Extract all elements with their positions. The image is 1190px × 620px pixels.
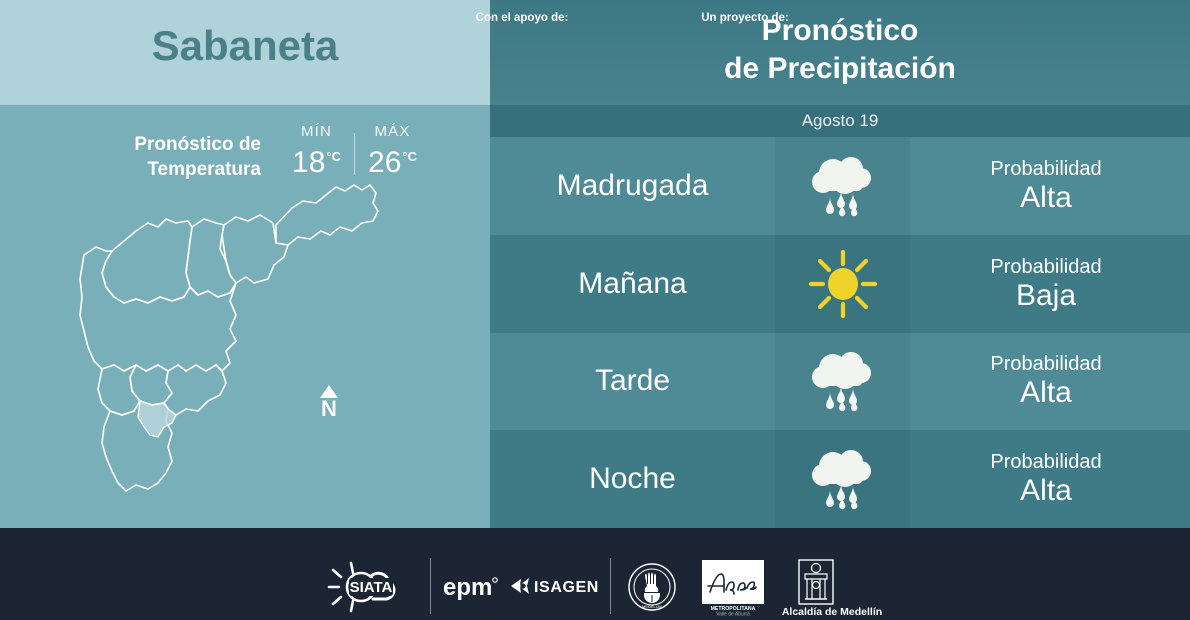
page-title: Sabaneta [0, 22, 490, 70]
udea-seal-icon: MEDELLÍN [627, 562, 677, 612]
sun-icon [807, 248, 879, 320]
udea-seal-logo: MEDELLÍN [627, 562, 677, 617]
table-row: Mañana Probabilidad Baja [490, 235, 1190, 333]
probability-label: Probabilidad [910, 157, 1182, 181]
weather-icon-cell [775, 333, 910, 431]
alcaldia-medellin-label: Alcaldía de Medellín [762, 606, 902, 618]
rain-cloud-icon [803, 444, 883, 514]
weather-icon-cell [775, 235, 910, 333]
svg-text:MEDELLÍN: MEDELLÍN [642, 604, 662, 609]
table-row: Tarde [490, 333, 1190, 431]
forecast-date: Agosto 19 [490, 105, 1190, 137]
compass-north-indicator: N [312, 385, 346, 419]
period-label: Madrugada [490, 169, 775, 203]
probability-value: Alta [910, 181, 1182, 215]
max-unit: °C [402, 149, 417, 164]
siata-logo: SIATA [327, 560, 427, 619]
epm-logo-icon: epm [443, 572, 503, 602]
epm-registered-mark [493, 578, 497, 582]
table-row: Noche [490, 430, 1190, 528]
right-panel: Pronóstico de Precipitación Agosto 19 Ma… [490, 0, 1190, 528]
alcaldia-medellin-icon [795, 558, 837, 606]
date-band: Agosto 19 [490, 105, 1190, 137]
min-unit: °C [326, 149, 341, 164]
isagen-logo: ISAGEN [509, 574, 601, 603]
area-metropolitana-logo: METROPOLITANA Valle de Aburrá [702, 560, 764, 620]
rain-cloud-icon [803, 346, 883, 416]
probability-cell: Probabilidad Baja [910, 255, 1190, 313]
siata-logo-text: SIATA [350, 579, 393, 596]
epm-logo: epm [443, 572, 503, 607]
probability-cell: Probabilidad Alta [910, 157, 1190, 215]
left-panel: Sabaneta Pronóstico de Temperatura MÍN 1… [0, 0, 490, 528]
map-band: Pronóstico de Temperatura MÍN 18°C MÁX 2… [0, 105, 490, 528]
period-label: Tarde [490, 364, 775, 398]
alcaldia-medellin-logo [795, 558, 837, 611]
forecast-rows: Madrugada [490, 137, 1190, 528]
municipalities-map-svg [40, 165, 400, 515]
probability-cell: Probabilidad Alta [910, 352, 1190, 410]
probability-label: Probabilidad [910, 450, 1182, 474]
rain-cloud-icon [803, 151, 883, 221]
isagen-logo-text: ISAGEN [534, 579, 599, 596]
table-row: Madrugada [490, 137, 1190, 235]
project-label: Un proyecto de: [660, 12, 830, 24]
probability-value: Baja [910, 279, 1182, 313]
probability-label: Probabilidad [910, 352, 1182, 376]
period-label: Mañana [490, 267, 775, 301]
isagen-logo-icon: ISAGEN [509, 574, 601, 598]
footer-divider-2 [610, 558, 611, 614]
probability-value: Alta [910, 474, 1182, 508]
siata-logo-icon: SIATA [327, 560, 427, 614]
footer-divider-1 [430, 558, 431, 614]
precipitation-title-line2: de Precipitación [724, 52, 956, 85]
aburra-valley-map: N [40, 165, 400, 515]
area-metropolitana-text-2: Valle de Aburrá [716, 612, 750, 617]
compass-label: N [312, 399, 346, 419]
probability-label: Probabilidad [910, 255, 1182, 279]
period-label: Noche [490, 462, 775, 496]
weather-icon-cell [775, 430, 910, 528]
weather-forecast-infographic: Sabaneta Pronóstico de Temperatura MÍN 1… [0, 0, 1190, 620]
temperature-title-line1: Pronóstico de [134, 132, 261, 157]
probability-value: Alta [910, 376, 1182, 410]
support-label: Con el apoyo de: [442, 12, 602, 24]
weather-icon-cell [775, 137, 910, 235]
min-label: MÍN [279, 123, 354, 140]
epm-logo-text: epm [443, 574, 492, 601]
max-label: MÁX [355, 123, 430, 140]
probability-cell: Probabilidad Alta [910, 450, 1190, 508]
area-metropolitana-icon: METROPOLITANA Valle de Aburrá [702, 560, 764, 616]
